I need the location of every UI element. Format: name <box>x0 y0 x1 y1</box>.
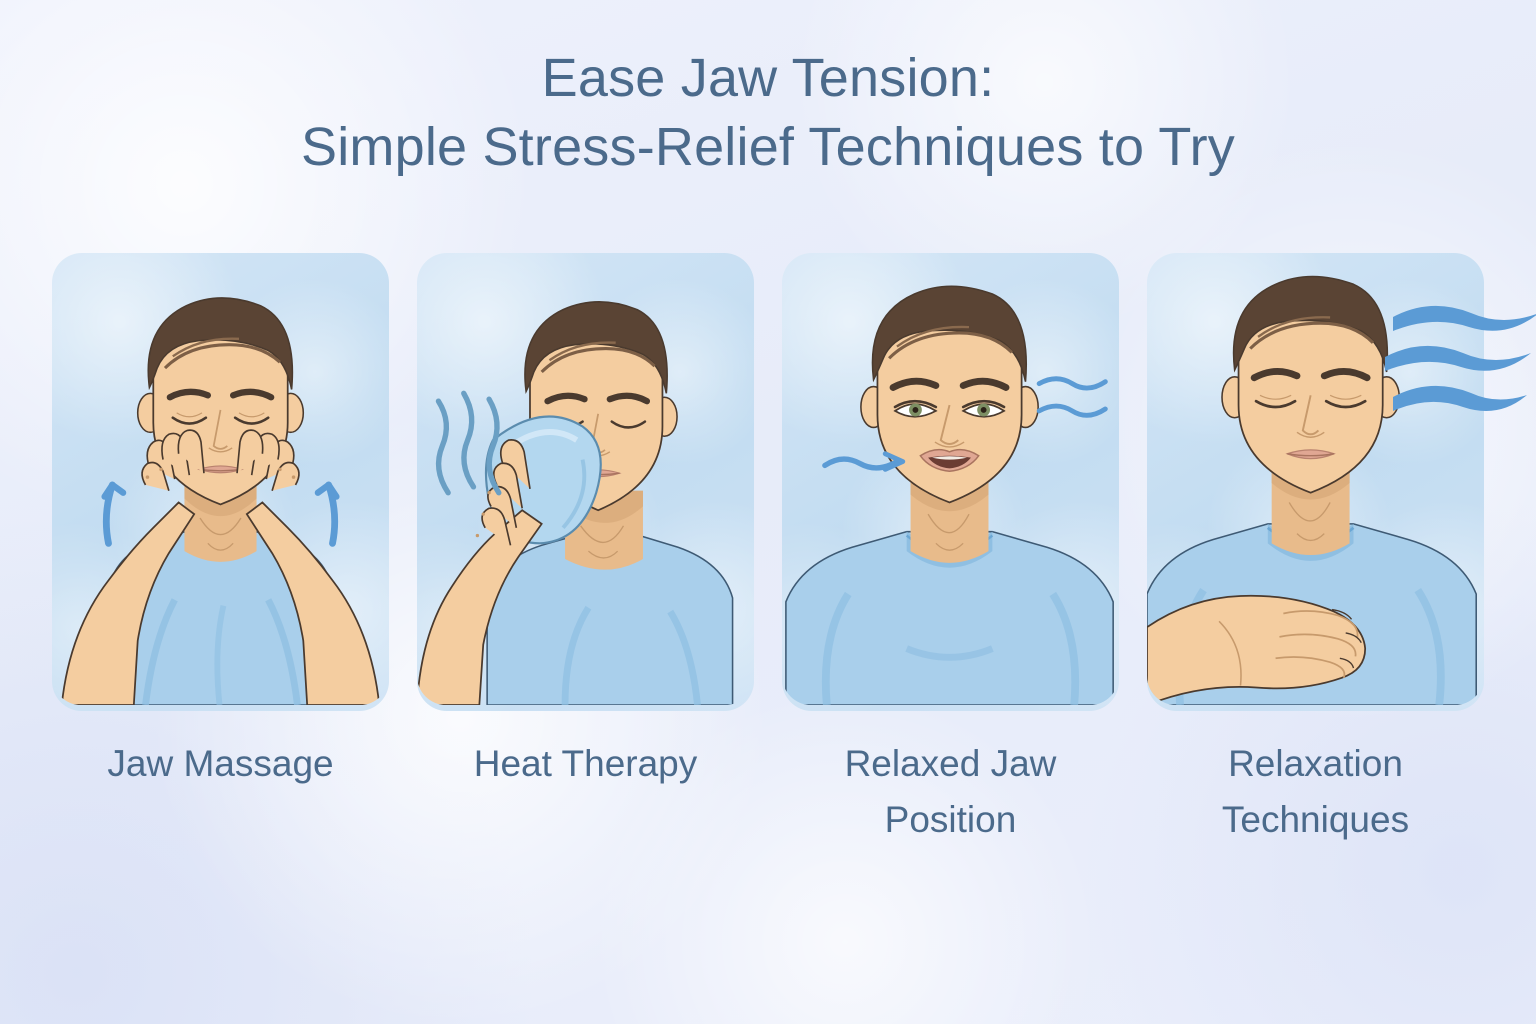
panel-heat-therapy[interactable] <box>417 253 754 711</box>
heat-steam-lines <box>438 393 498 492</box>
massage-motion-arrow-left <box>105 485 124 543</box>
infographic-poster: Ease Jaw Tension: Simple Stress-Relief T… <box>0 0 1536 1024</box>
massage-motion-arrow-right <box>318 485 337 543</box>
title-line-2: Simple Stress-Relief Techniques to Try <box>0 113 1536 182</box>
illustration-relaxation-breathing <box>1147 253 1484 711</box>
caption-heat-therapy: Heat Therapy <box>417 736 754 847</box>
page-title: Ease Jaw Tension: Simple Stress-Relief T… <box>0 44 1536 182</box>
illustration-heat-therapy <box>417 253 754 711</box>
caption-jaw-massage: Jaw Massage <box>52 736 389 847</box>
caption-row: Jaw Massage Heat Therapy Relaxed Jaw Pos… <box>52 736 1484 847</box>
technique-panel-row <box>52 253 1484 711</box>
exhale-wave-lines <box>1039 379 1105 416</box>
caption-relaxed-jaw-position: Relaxed Jaw Position <box>782 736 1119 847</box>
panel-relaxed-jaw-position[interactable] <box>782 253 1119 711</box>
illustration-jaw-massage <box>52 253 389 711</box>
caption-relaxation-techniques: Relaxation Techniques <box>1147 736 1484 847</box>
panel-relaxation-techniques[interactable] <box>1147 253 1484 711</box>
panel-jaw-massage[interactable] <box>52 253 389 711</box>
illustration-relaxed-jaw <box>782 253 1119 711</box>
title-line-1: Ease Jaw Tension: <box>0 44 1536 113</box>
